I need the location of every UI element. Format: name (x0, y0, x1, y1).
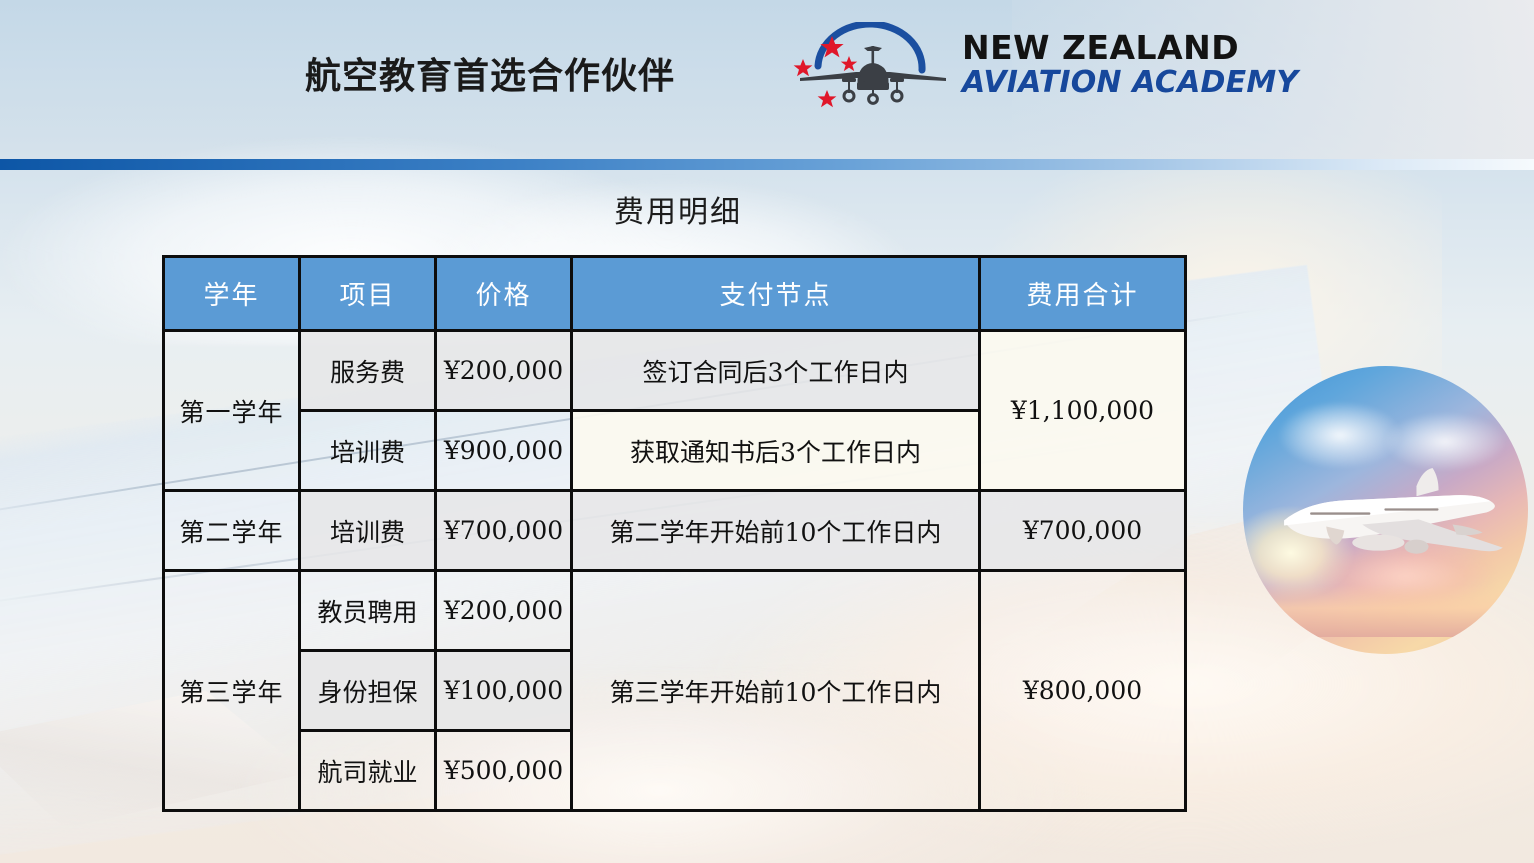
sunset-airplane-photo (1243, 366, 1528, 654)
table-row: 第二学年 培训费 ¥700,000 第二学年开始前10个工作日内 ¥700,00… (164, 491, 1186, 571)
cell-price-3: ¥700,000 (436, 491, 572, 571)
cell-price-1: ¥200,000 (436, 331, 572, 411)
cell-total-3: ¥800,000 (980, 571, 1186, 811)
cell-item-6: 航司就业 (300, 731, 436, 811)
section-title: 费用明细 (614, 187, 742, 231)
brand-logo: NEW ZEALAND AVIATION ACADEMY (786, 22, 1176, 110)
cell-item-3: 培训费 (300, 491, 436, 571)
fee-table-container: 学年 项目 价格 支付节点 费用合计 第一学年 服务费 ¥200,000 签订合… (162, 255, 1184, 812)
photo-airplane-icon (1266, 464, 1517, 585)
logo-airplane-icon (786, 22, 958, 110)
column-header-total: 费用合计 (980, 257, 1186, 331)
cell-price-4: ¥200,000 (436, 571, 572, 651)
cell-year-1: 第一学年 (164, 331, 300, 491)
cell-total-1: ¥1,100,000 (980, 331, 1186, 491)
table-row: 第三学年 教员聘用 ¥200,000 第三学年开始前10个工作日内 ¥800,0… (164, 571, 1186, 651)
cell-price-2: ¥900,000 (436, 411, 572, 491)
column-header-price: 价格 (436, 257, 572, 331)
header-divider (0, 159, 1534, 170)
cell-price-5: ¥100,000 (436, 651, 572, 731)
page-title: 航空教育首选合作伙伴 (305, 47, 675, 99)
column-header-item: 项目 (300, 257, 436, 331)
cell-node-4: 第三学年开始前10个工作日内 (572, 571, 980, 811)
logo-line-1: NEW ZEALAND (962, 30, 1298, 66)
logo-wordmark: NEW ZEALAND AVIATION ACADEMY (962, 30, 1298, 100)
cell-item-2: 培训费 (300, 411, 436, 491)
cell-item-5: 身份担保 (300, 651, 436, 731)
table-row: 第一学年 服务费 ¥200,000 签订合同后3个工作日内 ¥1,100,000 (164, 331, 1186, 411)
cell-item-4: 教员聘用 (300, 571, 436, 651)
cell-node-3: 第二学年开始前10个工作日内 (572, 491, 980, 571)
cell-node-2: 获取通知书后3个工作日内 (572, 411, 980, 491)
cell-node-1: 签订合同后3个工作日内 (572, 331, 980, 411)
fee-table: 学年 项目 价格 支付节点 费用合计 第一学年 服务费 ¥200,000 签订合… (162, 255, 1187, 812)
column-header-year: 学年 (164, 257, 300, 331)
cell-total-2: ¥700,000 (980, 491, 1186, 571)
column-header-payment-node: 支付节点 (572, 257, 980, 331)
cell-year-3: 第三学年 (164, 571, 300, 811)
photo-horizon (1243, 585, 1528, 637)
table-header-row: 学年 项目 价格 支付节点 费用合计 (164, 257, 1186, 331)
cell-year-2: 第二学年 (164, 491, 300, 571)
cell-item-1: 服务费 (300, 331, 436, 411)
slide-canvas: 航空教育首选合作伙伴 (0, 0, 1534, 863)
logo-line-2: AVIATION ACADEMY (962, 66, 1298, 100)
cell-price-6: ¥500,000 (436, 731, 572, 811)
